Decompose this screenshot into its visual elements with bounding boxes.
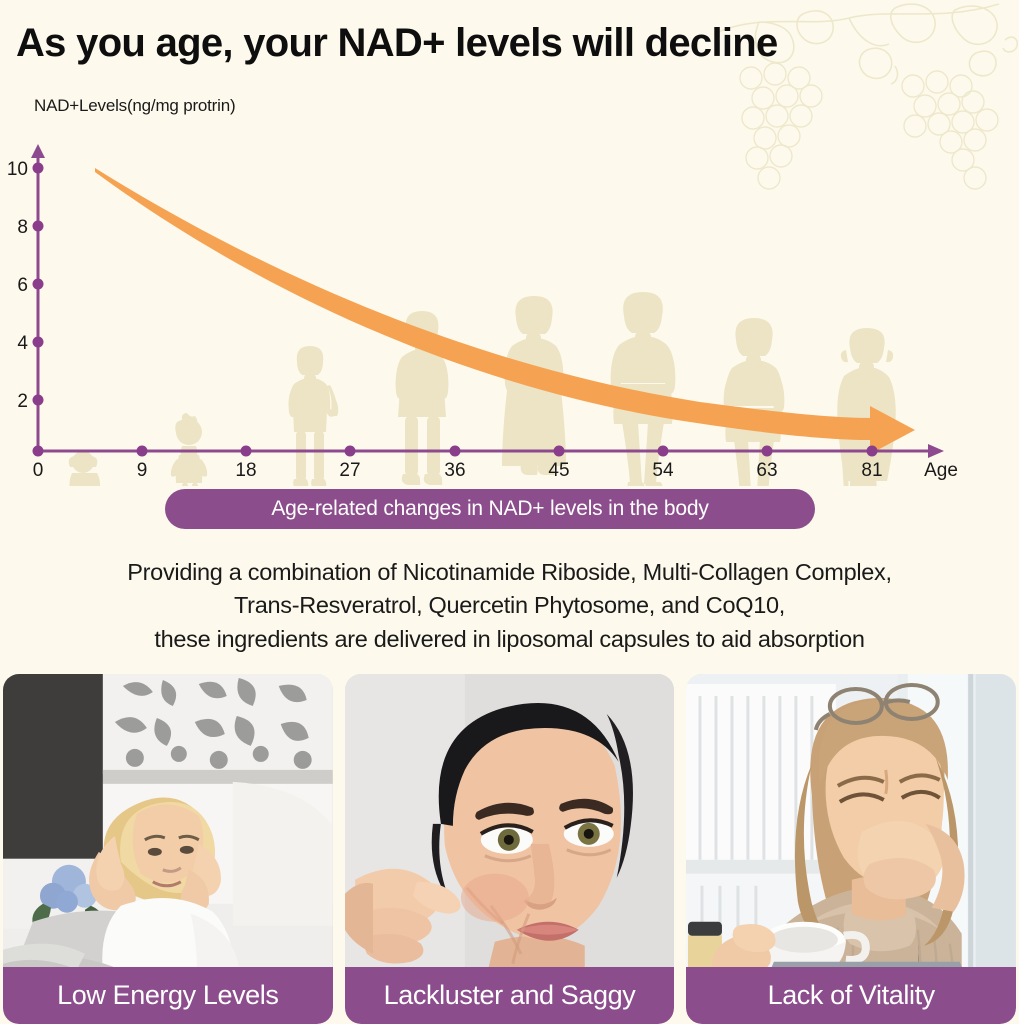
- card-caption-vitality: Lack of Vitality: [686, 967, 1016, 1024]
- x-tick-36: 36: [444, 460, 465, 481]
- x-tick-9: 9: [137, 460, 148, 481]
- paragraph-line-1: Providing a combination of Nicotinamide …: [20, 556, 999, 589]
- chart-caption-text: Age-related changes in NAD+ levels in th…: [271, 497, 708, 521]
- x-tick-18: 18: [235, 460, 256, 481]
- x-tick-81: 81: [861, 460, 882, 481]
- paragraph-line-2: Trans-Resveratrol, Quercetin Phytosome, …: [20, 589, 999, 622]
- x-tick-45: 45: [548, 460, 569, 481]
- page-title: As you age, your NAD+ levels will declin…: [16, 22, 976, 64]
- y-axis: 10 8 6 4 2: [7, 144, 45, 451]
- card-lackluster-saggy: Lackluster and Saggy: [345, 674, 675, 1024]
- y-tick-2: 2: [17, 391, 28, 412]
- nad-decline-chart: NAD+Levels(ng/mg protrin): [0, 96, 1019, 486]
- x-tick-0: 0: [33, 460, 44, 481]
- y-tick-4: 4: [17, 333, 28, 354]
- x-tick-27: 27: [339, 460, 360, 481]
- card-caption-low-energy: Low Energy Levels: [3, 967, 333, 1024]
- x-axis-name: Age: [924, 460, 958, 481]
- infographic-page: As you age, your NAD+ levels will declin…: [0, 0, 1019, 1024]
- chart-canvas: 10 8 6 4 2 0 9 18: [0, 96, 1019, 486]
- chart-caption-pill: Age-related changes in NAD+ levels in th…: [165, 489, 815, 529]
- card-lack-of-vitality: Lack of Vitality: [686, 674, 1016, 1024]
- y-tick-6: 6: [17, 275, 28, 296]
- x-tick-54: 54: [652, 460, 674, 481]
- symptom-cards: Low Energy Levels: [0, 674, 1019, 1024]
- paragraph-line-3: these ingredients are delivered in lipos…: [20, 623, 999, 656]
- card-caption-lackluster: Lackluster and Saggy: [345, 967, 675, 1024]
- x-tick-63: 63: [756, 460, 777, 481]
- card-low-energy: Low Energy Levels: [3, 674, 333, 1024]
- ingredients-paragraph: Providing a combination of Nicotinamide …: [20, 556, 999, 656]
- life-stage-silhouettes: [64, 292, 896, 486]
- y-tick-8: 8: [17, 217, 28, 238]
- y-tick-10: 10: [7, 159, 28, 180]
